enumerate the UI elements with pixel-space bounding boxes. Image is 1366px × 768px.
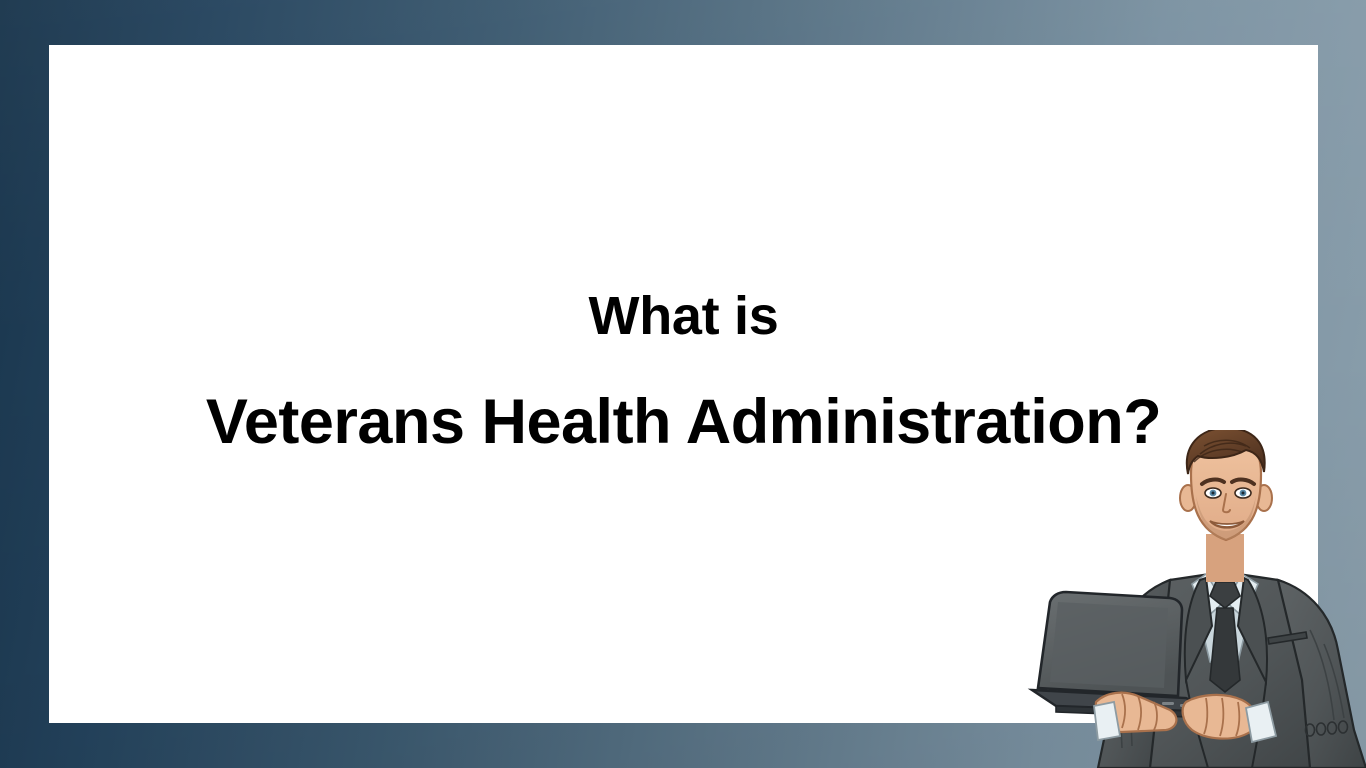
- title-line-2: Veterans Health Administration?: [49, 388, 1318, 457]
- slide: What is Veterans Health Administration?: [0, 0, 1366, 768]
- title-block: What is Veterans Health Administration?: [49, 287, 1318, 458]
- content-card: What is Veterans Health Administration?: [49, 45, 1318, 723]
- title-line-1: What is: [49, 287, 1318, 346]
